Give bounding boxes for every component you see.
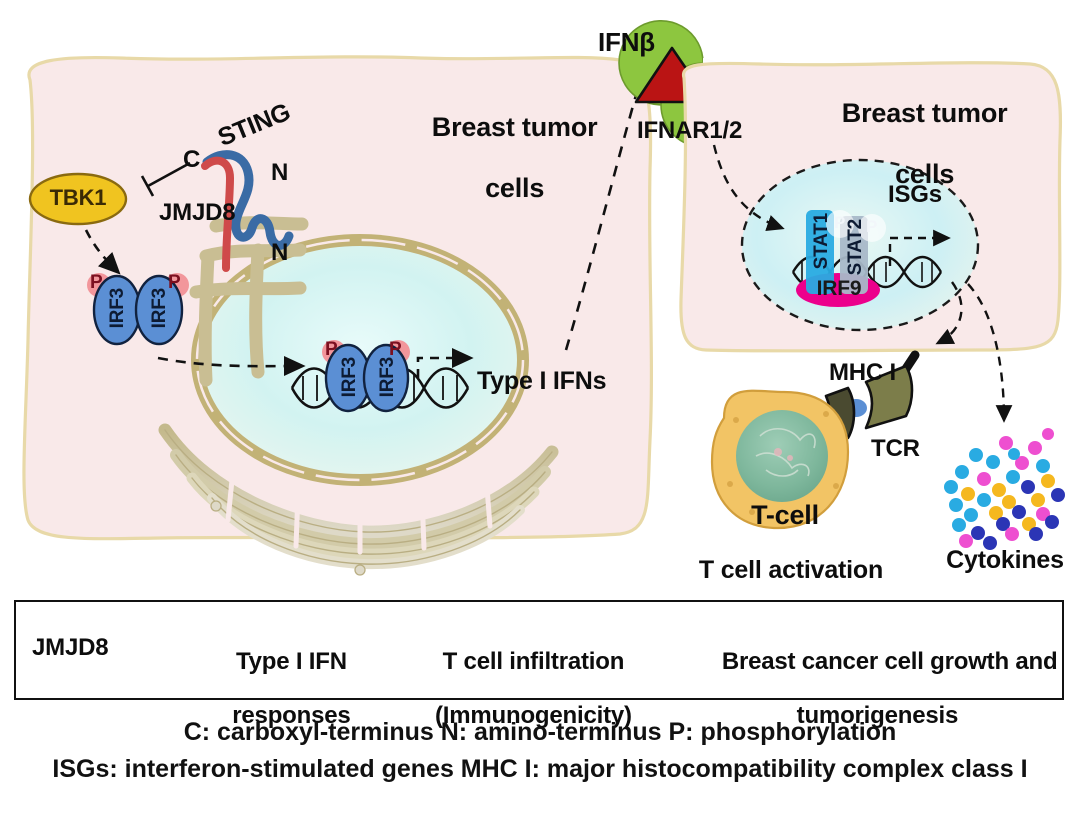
left-cell-title: Breast tumor cells xyxy=(395,82,605,233)
irf3-cyto-label-right: IRF3 xyxy=(149,288,170,328)
legend-line-1: C: carboxyl-terminus N: amino-terminus P… xyxy=(0,718,1080,747)
t-cell-activation-caption: T cell activation xyxy=(686,556,896,584)
irf9-label: IRF9 xyxy=(806,277,872,301)
type-i-ifns-label: Type I IFNs xyxy=(477,367,606,395)
tbk1-label: TBK1 xyxy=(30,186,126,211)
summary-item-1-line1: Type I IFN xyxy=(236,648,347,675)
tcr-label: TCR xyxy=(871,436,920,463)
summary-item-2-line1: T cell infiltration xyxy=(443,648,625,675)
isgs-label: ISGs xyxy=(888,182,942,209)
stat2-phospho-label: P xyxy=(866,217,877,236)
cytokines-caption: Cytokines xyxy=(930,546,1080,574)
ifnar-label: IFNAR1/2 xyxy=(637,118,742,145)
mhc-i-label: MHC I xyxy=(829,360,896,387)
stat1-phospho-label: P xyxy=(834,213,845,232)
stat1-label: STAT1 xyxy=(811,213,832,269)
stat2-label: STAT2 xyxy=(845,219,866,275)
right-cell-title-line1: Breast tumor xyxy=(842,98,1008,128)
summary-item-0-text: JMJD8 xyxy=(32,635,108,662)
legend-line-2: ISGs: interferon-stimulated genes MHC I:… xyxy=(0,755,1080,784)
jmjd8-label: JMJD8 xyxy=(159,200,235,227)
n-terminus-bottom-label: N xyxy=(271,240,288,267)
ifnb-label: IFNβ xyxy=(598,28,655,57)
abbreviation-legend: C: carboxyl-terminus N: amino-terminus P… xyxy=(0,718,1080,784)
diagram-canvas: Breast tumor cells TBK1 STING JMJD8 C N … xyxy=(0,0,1080,826)
summary-flow-box: JMJD8 Type I IFN responses T cell infilt… xyxy=(14,600,1064,700)
irf3-nuc-label-left: IRF3 xyxy=(339,357,360,397)
irf3-nuc-label-right: IRF3 xyxy=(377,357,398,397)
irf3-cyto-p-left: P xyxy=(90,272,102,293)
left-cell-title-line2: cells xyxy=(485,173,544,203)
c-terminus-label: C xyxy=(183,147,200,174)
irf3-cyto-label-left: IRF3 xyxy=(107,288,128,328)
irf3-nuc-p-left: P xyxy=(325,339,337,360)
left-cell-title-line1: Breast tumor xyxy=(432,112,598,142)
t-cell-label: T-cell xyxy=(730,500,840,530)
n-terminus-top-label: N xyxy=(271,160,288,187)
summary-item-3-line1: Breast cancer cell growth and xyxy=(722,648,1058,675)
